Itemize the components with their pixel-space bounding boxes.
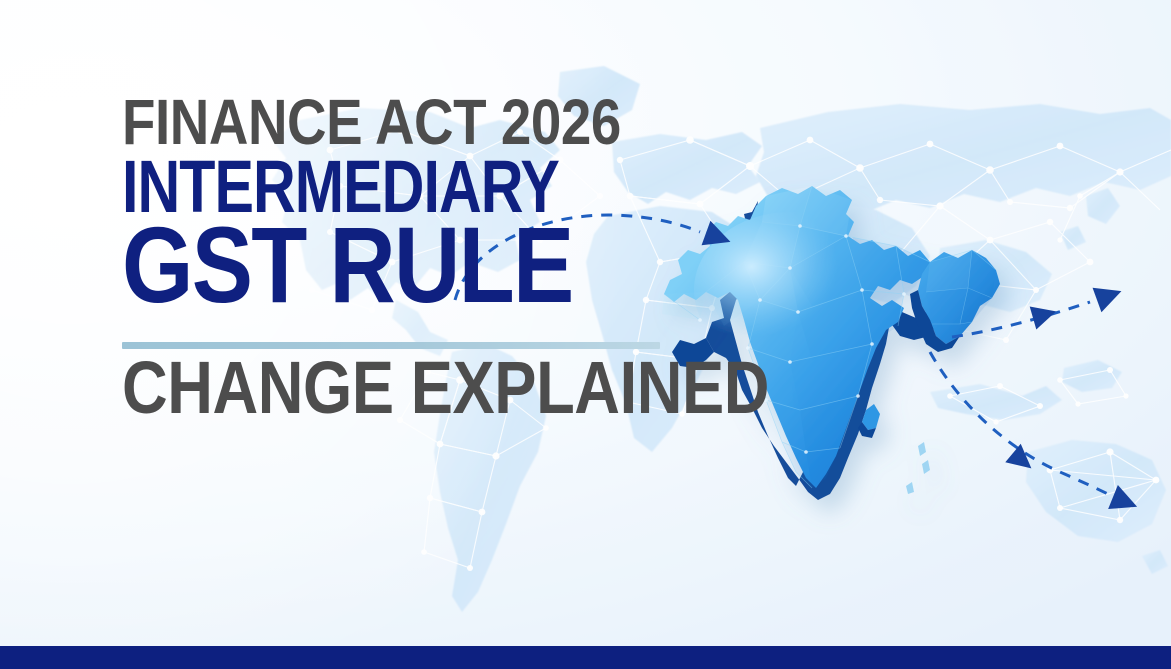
headline-line-finance-act: FINANCE ACT 2026 [122,98,635,147]
headline-line-change-explained: CHANGE EXPLAINED [122,358,721,417]
arrow-southeast-1 [1005,444,1039,478]
arrow-east-2 [1093,279,1126,312]
route-india-to-east [952,302,1090,337]
headline-line-gst-rule: GST RULE [122,222,632,308]
headline-block: FINANCE ACT 2026 INTERMEDIARY GST RULE [122,98,722,308]
route-india-to-southeast [930,352,1112,496]
bottom-accent-bar [0,646,1171,669]
subheadline-block: CHANGE EXPLAINED [122,358,822,417]
arrow-southeast-2 [1108,485,1142,519]
banner-canvas: FINANCE ACT 2026 INTERMEDIARY GST RULE C… [0,0,1171,669]
